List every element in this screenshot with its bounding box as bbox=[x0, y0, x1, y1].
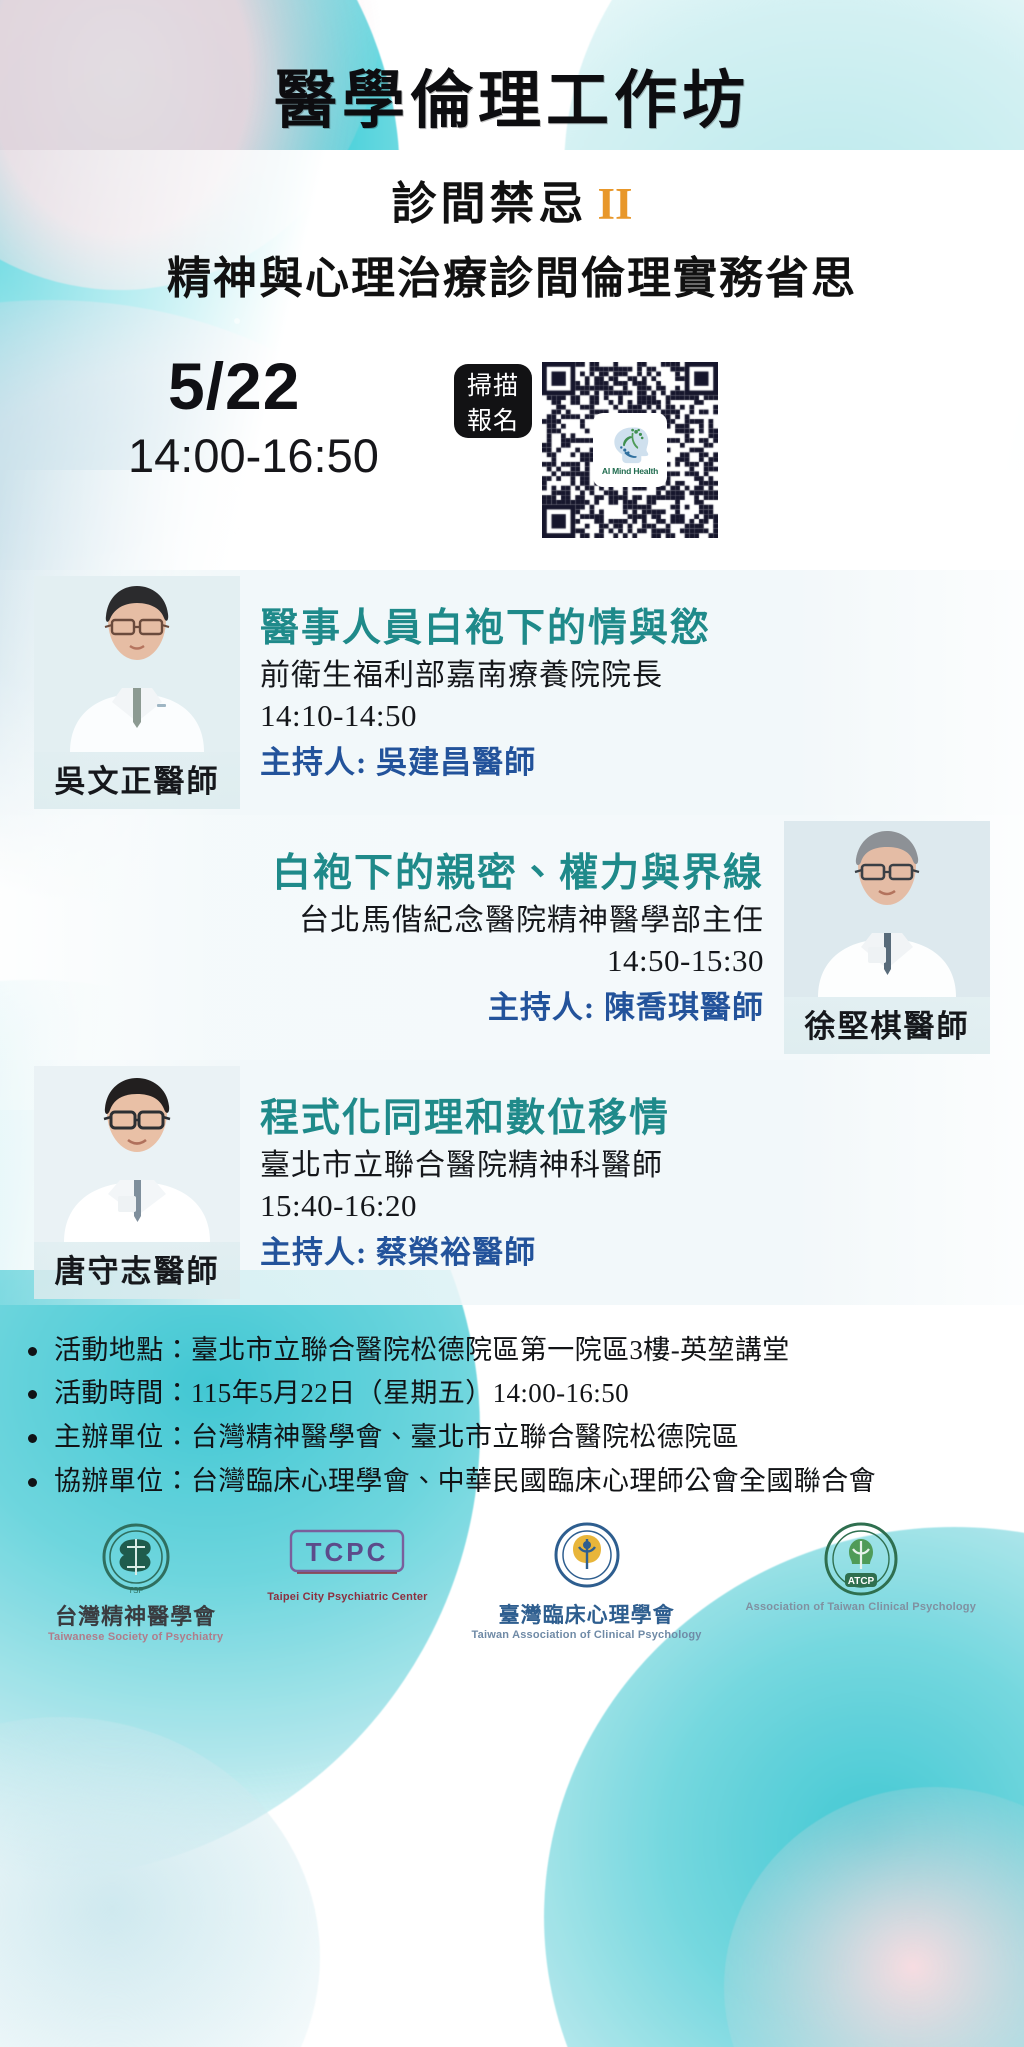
tacp-emblem-icon bbox=[545, 1521, 629, 1597]
speaker-photo-2 bbox=[784, 821, 990, 997]
subtitle-secondary: 精神與心理治療診間倫理實務省思 bbox=[0, 242, 1024, 306]
poster-header: 醫學倫理工作坊 診間禁忌II 精神與心理治療診間倫理實務省思 bbox=[0, 0, 1024, 306]
speaker-photo-1 bbox=[34, 576, 240, 752]
date-and-qr-section: 5/22 14:00-16:50 掃描 報名 bbox=[0, 348, 1024, 548]
qr-center-logo: AI Mind Health bbox=[593, 413, 667, 487]
logo-tacp-sub: Taiwan Association of Clinical Psycholog… bbox=[472, 1629, 702, 1641]
talk-affiliation-3: 臺北市立聯合醫院精神科醫師 bbox=[260, 1146, 990, 1185]
talk-row-3: 唐守志醫師 程式化同理和數位移情 臺北市立聯合醫院精神科醫師 15:40-16:… bbox=[0, 1060, 1024, 1305]
talk-details-1: 醫事人員白袍下的情與慾 前衛生福利部嘉南療養院院長 14:10-14:50 主持… bbox=[254, 570, 1024, 815]
talk-title-3: 程式化同理和數位移情 bbox=[260, 1096, 990, 1143]
speaker-photo-3 bbox=[34, 1066, 240, 1242]
talks-list: 吳文正醫師 醫事人員白袍下的情與慾 前衛生福利部嘉南療養院院長 14:10-14… bbox=[0, 570, 1024, 1305]
atcp-emblem-icon: ATCP bbox=[813, 1521, 909, 1601]
info-item-datetime: 活動時間：115年5月22日（星期五）14:00-16:50 bbox=[54, 1372, 994, 1416]
talk-affiliation-1: 前衛生福利部嘉南療養院院長 bbox=[260, 656, 990, 695]
subtitle-primary: 診間禁忌II bbox=[0, 167, 1024, 232]
event-time-range: 14:00-16:50 bbox=[128, 428, 379, 483]
logo-tsp-sub: Taiwanese Society of Psychiatry bbox=[48, 1631, 223, 1643]
portrait-illustration-2 bbox=[784, 821, 990, 997]
logo-tsp: TSP 台灣精神醫學會 Taiwanese Society of Psychia… bbox=[48, 1521, 223, 1643]
qr-code[interactable]: AI Mind Health bbox=[536, 356, 724, 544]
subtitle-numeral: II bbox=[587, 179, 632, 229]
footer-logos: TSP 台灣精神醫學會 Taiwanese Society of Psychia… bbox=[0, 1521, 1024, 1681]
scan-badge-line-2: 報名 bbox=[454, 404, 532, 440]
scan-badge-line-1: 掃描 bbox=[454, 369, 532, 405]
poster-root: 醫學倫理工作坊 診間禁忌II 精神與心理治療診間倫理實務省思 5/22 14:0… bbox=[0, 0, 1024, 2047]
speaker-name-2: 徐堅棋醫師 bbox=[805, 997, 970, 1054]
info-item-organizer: 主辦單位：台灣精神醫學會、臺北市立聯合醫院松德院區 bbox=[54, 1416, 994, 1460]
info-item-location: 活動地點：臺北市立聯合醫院松德院區第一院區3樓-英堃講堂 bbox=[54, 1329, 994, 1373]
subtitle-primary-text: 診間禁忌 bbox=[391, 179, 587, 229]
speaker-name-1: 吳文正醫師 bbox=[55, 752, 220, 809]
talk-details-3: 程式化同理和數位移情 臺北市立聯合醫院精神科醫師 15:40-16:20 主持人… bbox=[254, 1060, 1024, 1305]
svg-text:TCPC: TCPC bbox=[306, 1537, 389, 1567]
talk-title-2: 白袍下的親密、權力與界線 bbox=[34, 851, 764, 898]
tsp-emblem-icon: TSP bbox=[93, 1521, 179, 1597]
speaker-card-3: 唐守志醫師 bbox=[34, 1066, 240, 1299]
info-item-coorganizer: 協辦單位：台灣臨床心理學會、中華民國臨床心理師公會全國聯合會 bbox=[54, 1460, 994, 1504]
portrait-illustration-3 bbox=[34, 1066, 240, 1242]
talk-affiliation-2: 台北馬偕紀念醫院精神醫學部主任 bbox=[34, 901, 764, 940]
logo-tacp: 臺灣臨床心理學會 Taiwan Association of Clinical … bbox=[472, 1521, 702, 1641]
qr-registration-block[interactable]: 掃描 報名 bbox=[536, 356, 724, 544]
speaker-card-1: 吳文正醫師 bbox=[34, 576, 240, 809]
tcpc-wordmark-icon: TCPC bbox=[287, 1521, 407, 1591]
talk-host-3: 主持人: 蔡榮裕醫師 bbox=[260, 1227, 990, 1272]
svg-text:ATCP: ATCP bbox=[848, 1576, 875, 1587]
page-title: 醫學倫理工作坊 bbox=[0, 66, 1024, 137]
portrait-illustration-1 bbox=[34, 576, 240, 752]
talk-host-2: 主持人: 陳喬琪醫師 bbox=[34, 982, 764, 1027]
ai-mind-health-head-icon bbox=[609, 424, 651, 464]
qr-logo-caption: AI Mind Health bbox=[602, 466, 658, 476]
event-info-list: 活動地點：臺北市立聯合醫院松德院區第一院區3樓-英堃講堂 活動時間：115年5月… bbox=[0, 1321, 1024, 1508]
talk-row-2: 徐堅棋醫師 白袍下的親密、權力與界線 台北馬偕紀念醫院精神醫學部主任 14:50… bbox=[0, 815, 1024, 1060]
talk-details-2: 白袍下的親密、權力與界線 台北馬偕紀念醫院精神醫學部主任 14:50-15:30… bbox=[0, 815, 770, 1060]
speaker-name-3: 唐守志醫師 bbox=[55, 1242, 220, 1299]
logo-tacp-name: 臺灣臨床心理學會 bbox=[499, 1599, 675, 1629]
talk-title-1: 醫事人員白袍下的情與慾 bbox=[260, 606, 990, 653]
logo-tcpc: TCPC Taipei City Psychiatric Center bbox=[267, 1521, 427, 1603]
talk-time-3: 15:40-16:20 bbox=[260, 1188, 990, 1224]
logo-tsp-name: 台灣精神醫學會 bbox=[55, 1599, 216, 1631]
talk-time-2: 14:50-15:30 bbox=[34, 943, 764, 979]
scan-to-register-badge: 掃描 報名 bbox=[454, 364, 532, 438]
logo-tcpc-sub: Taipei City Psychiatric Center bbox=[267, 1591, 427, 1603]
speaker-card-2: 徐堅棋醫師 bbox=[784, 821, 990, 1054]
talk-row-1: 吳文正醫師 醫事人員白袍下的情與慾 前衛生福利部嘉南療養院院長 14:10-14… bbox=[0, 570, 1024, 815]
talk-time-1: 14:10-14:50 bbox=[260, 698, 990, 734]
logo-atcp-sub: Association of Taiwan Clinical Psycholog… bbox=[746, 1601, 977, 1613]
logo-atcp: ATCP Association of Taiwan Clinical Psyc… bbox=[746, 1521, 977, 1613]
event-date: 5/22 bbox=[168, 348, 300, 424]
svg-text:TSP: TSP bbox=[128, 1586, 144, 1595]
talk-host-1: 主持人: 吳建昌醫師 bbox=[260, 737, 990, 782]
